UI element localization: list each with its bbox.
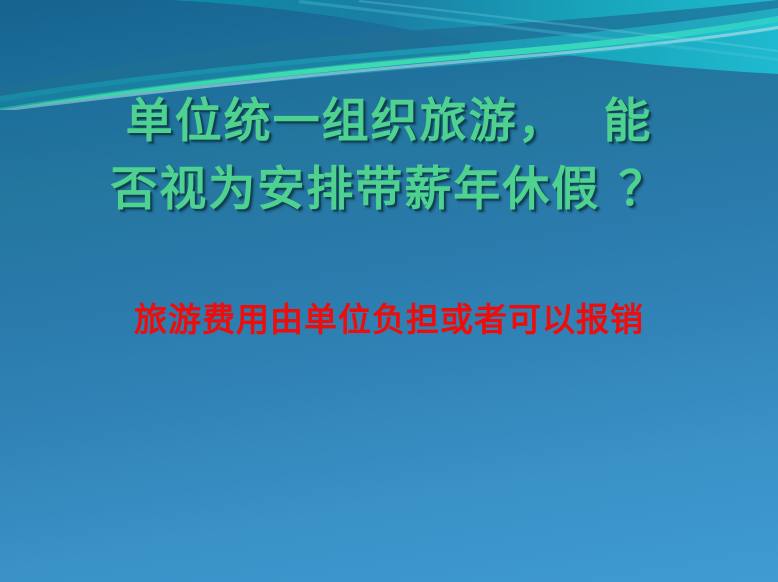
subtitle-line-1: 旅游费用由单位负担或者可以报销	[0, 298, 778, 342]
presentation-slide: 单位统一组织旅游， 能 否视为安排带薪年休假 ？ 旅游费用由单位负担或者可以报销	[0, 0, 778, 582]
slide-title: 单位统一组织旅游， 能 否视为安排带薪年休假 ？	[0, 88, 778, 224]
title-line-2: 否视为安排带薪年休假 ？	[0, 156, 778, 224]
slide-subtitle: 旅游费用由单位负担或者可以报销	[0, 298, 778, 342]
title-line-1: 单位统一组织旅游， 能	[0, 88, 778, 156]
